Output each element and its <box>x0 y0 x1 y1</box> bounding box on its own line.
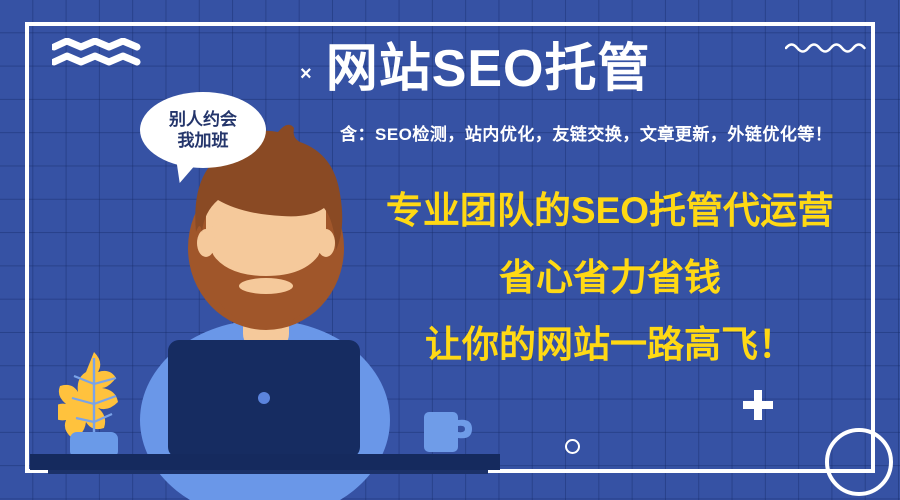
slogan-line-2: 省心省力省钱 <box>360 259 860 298</box>
slogan-block: 专业团队的SEO托管代运营 省心省力省钱 让你的网站一路高飞！ <box>360 192 860 365</box>
corner-circle-outline <box>825 428 893 496</box>
speech-bubble: 别人约会 我加班 <box>140 92 266 168</box>
mug-body <box>424 412 458 452</box>
small-circle-outline-icon <box>565 439 580 454</box>
plus-mark-icon <box>743 390 773 420</box>
desk-edge <box>48 470 488 474</box>
slogan-line-3: 让你的网站一路高飞！ <box>360 326 860 365</box>
laptop-illustration <box>168 340 360 458</box>
mug-handle <box>458 420 472 439</box>
coffee-mug-decoration <box>422 404 474 459</box>
desk-surface <box>30 454 500 470</box>
speech-bubble-line-1: 别人约会 <box>169 109 237 130</box>
plant-leaf-shape <box>58 352 118 438</box>
speech-bubble-line-2: 我加班 <box>178 130 229 151</box>
ear-right <box>317 229 335 257</box>
seo-poster: × 网站SEO托管 含：SEO检测，站内优化，友链交换，文章更新，外链优化等！ … <box>0 0 900 500</box>
subtitle-text: 含：SEO检测，站内优化，友链交换，文章更新，外链优化等！ <box>340 120 885 145</box>
laptop-logo-dot-icon <box>258 392 270 404</box>
mouth-shape <box>239 278 293 294</box>
plant-decoration <box>58 348 130 465</box>
slogan-line-1: 专业团队的SEO托管代运营 <box>360 192 860 231</box>
ear-left <box>197 229 215 257</box>
